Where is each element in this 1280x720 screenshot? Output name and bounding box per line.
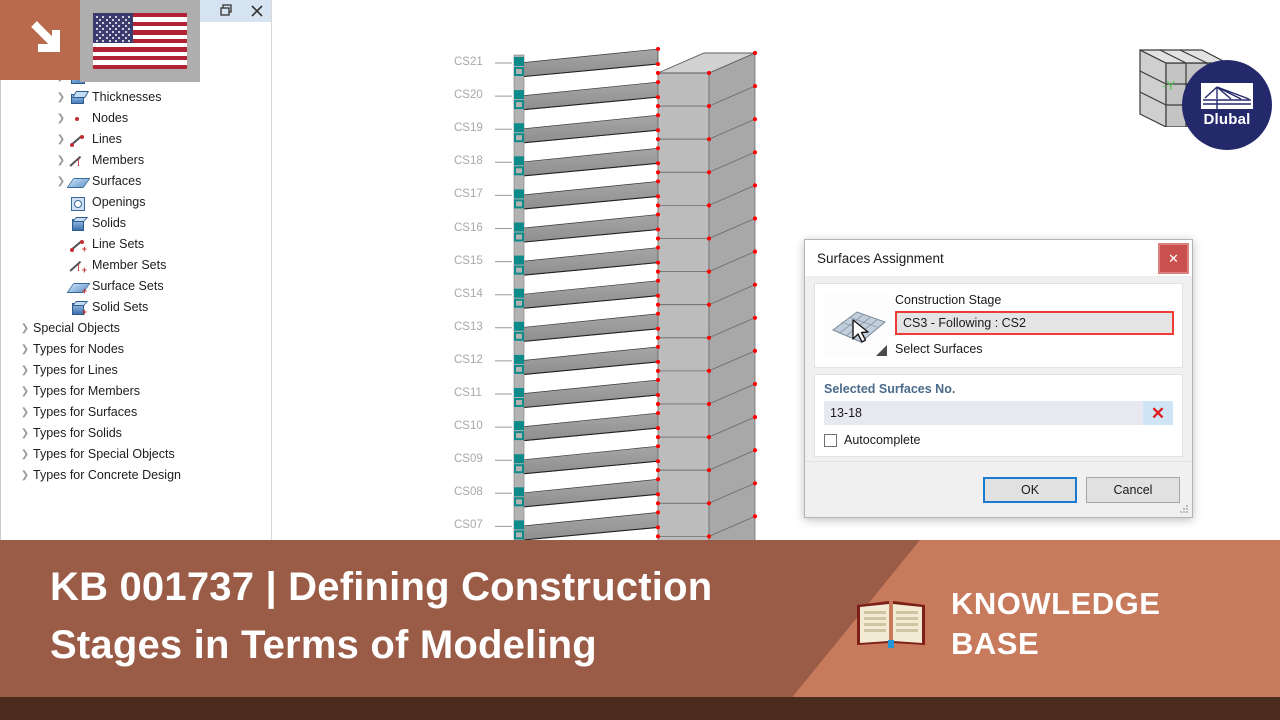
- tree-item-label: Thicknesses: [92, 91, 161, 104]
- member-set-icon: +: [69, 258, 87, 274]
- tree-item-label: Types for Surfaces: [33, 406, 137, 419]
- surface-icon: [69, 174, 87, 190]
- cs-label-cs08: CS08: [454, 486, 483, 498]
- dlubal-logo: -Y: [1132, 22, 1272, 152]
- node-icon: [69, 111, 87, 127]
- tree-item-member-sets[interactable]: ❯+Member Sets: [1, 255, 271, 276]
- dialog-title: Surfaces Assignment: [817, 251, 944, 266]
- tree-item-types-for-nodes[interactable]: ❯Types for Nodes: [1, 339, 271, 360]
- tree-item-lines[interactable]: ❯Lines: [1, 129, 271, 150]
- chevron-right-icon[interactable]: ❯: [17, 408, 33, 418]
- dlubal-badge: Dlubal: [1182, 60, 1272, 150]
- chevron-right-icon: ❯: [53, 240, 69, 250]
- red-x-icon[interactable]: ✕: [1143, 401, 1173, 425]
- cs-label-cs21: CS21: [454, 56, 483, 68]
- thumbnail-corner-marker: [876, 345, 887, 356]
- line-icon: [69, 132, 87, 148]
- tree-item-solids[interactable]: ❯Solids: [1, 213, 271, 234]
- resize-grip-icon[interactable]: [1179, 504, 1189, 514]
- chevron-right-icon[interactable]: ❯: [17, 387, 33, 397]
- tree-item-label: Surface Sets: [92, 280, 164, 293]
- cs-label-cs11: CS11: [454, 387, 482, 399]
- tree-item-members[interactable]: ❯Members: [1, 150, 271, 171]
- tree-item-label: Solids: [92, 217, 126, 230]
- cs-label-cs14: CS14: [454, 288, 483, 300]
- ok-button[interactable]: OK: [983, 477, 1077, 503]
- tree-item-thicknesses[interactable]: ❯Thicknesses: [1, 87, 271, 108]
- selected-surfaces-section: Selected Surfaces No. ✕ Autocomplete: [814, 374, 1183, 457]
- dialog-button-bar: OK Cancel: [805, 461, 1192, 517]
- tree-item-surfaces[interactable]: ❯Surfaces: [1, 171, 271, 192]
- chevron-right-icon: ❯: [53, 261, 69, 271]
- tree-item-types-for-special-objects[interactable]: ❯Types for Special Objects: [1, 444, 271, 465]
- close-icon[interactable]: ✕: [1158, 243, 1189, 274]
- tree-item-label: Member Sets: [92, 259, 166, 272]
- surfaces-assignment-dialog[interactable]: Surfaces Assignment ✕: [804, 239, 1193, 518]
- tree-item-label: Lines: [92, 133, 122, 146]
- chevron-right-icon: ❯: [53, 198, 69, 208]
- tree-item-types-for-lines[interactable]: ❯Types for Lines: [1, 360, 271, 381]
- tree-item-types-for-surfaces[interactable]: ❯Types for Surfaces: [1, 402, 271, 423]
- tree-item-openings[interactable]: ❯Openings: [1, 192, 271, 213]
- restore-icon[interactable]: [219, 3, 235, 19]
- selected-surfaces-header: Selected Surfaces No.: [824, 382, 1173, 396]
- construction-stage-section: Construction Stage CS3 - Following : CS2…: [814, 283, 1183, 368]
- cs-label-cs20: CS20: [454, 89, 483, 101]
- bottom-banner: KB 001737 | Defining Construction Stages…: [0, 540, 1280, 720]
- chevron-right-icon[interactable]: ❯: [53, 114, 69, 124]
- chevron-right-icon[interactable]: ❯: [53, 177, 69, 187]
- kb-line2: BASE: [951, 624, 1160, 664]
- cs-label-cs12: CS12: [454, 354, 483, 366]
- dlubal-wordmark: Dlubal: [1203, 111, 1250, 128]
- knowledge-base-block: KNOWLEDGE BASE: [855, 584, 1160, 663]
- tree-item-label: Types for Concrete Design: [33, 469, 181, 482]
- tree-item-surface-sets[interactable]: ❯+Surface Sets: [1, 276, 271, 297]
- tree-item-label: Openings: [92, 196, 146, 209]
- tree-item-label: Members: [92, 154, 144, 167]
- chevron-right-icon[interactable]: ❯: [17, 345, 33, 355]
- tree-item-label: Special Objects: [33, 322, 120, 335]
- us-flag-icon: [80, 0, 200, 82]
- kb-line1: KNOWLEDGE: [951, 584, 1160, 624]
- surface-set-icon: +: [69, 279, 87, 295]
- tree-item-label: Types for Solids: [33, 427, 122, 440]
- tree-item-label: Types for Special Objects: [33, 448, 175, 461]
- tree-item-label: Solid Sets: [92, 301, 148, 314]
- autocomplete-label: Autocomplete: [844, 433, 920, 447]
- select-surfaces-button[interactable]: Select Surfaces: [895, 342, 1174, 356]
- banner-title-line1: KB 001737 | Defining Construction: [50, 558, 790, 616]
- tree-item-label: Line Sets: [92, 238, 144, 251]
- tree-item-solid-sets[interactable]: ❯+Solid Sets: [1, 297, 271, 318]
- cs-label-cs16: CS16: [454, 222, 483, 234]
- opening-icon: [69, 195, 87, 211]
- application-window: CS21CS20CS19CS18CS17CS16CS15CS14CS13CS12…: [0, 0, 1280, 540]
- cs-label-cs09: CS09: [454, 453, 483, 465]
- chevron-right-icon[interactable]: ❯: [17, 450, 33, 460]
- member-icon: [69, 153, 87, 169]
- thickness-icon: [69, 90, 87, 106]
- cs-label-cs18: CS18: [454, 155, 483, 167]
- cs-label-cs07: CS07: [454, 519, 483, 531]
- tree-item-nodes[interactable]: ❯Nodes: [1, 108, 271, 129]
- cancel-button[interactable]: Cancel: [1086, 477, 1180, 503]
- construction-stage-combo[interactable]: CS3 - Following : CS2: [895, 311, 1174, 335]
- banner-title-line2: Stages in Terms of Modeling: [50, 616, 790, 674]
- cs-label-cs13: CS13: [454, 321, 483, 333]
- cs-label-cs10: CS10: [454, 420, 483, 432]
- banner-title: KB 001737 | Defining Construction Stages…: [50, 558, 790, 674]
- chevron-right-icon[interactable]: ❯: [17, 366, 33, 376]
- chevron-right-icon[interactable]: ❯: [53, 135, 69, 145]
- autocomplete-checkbox[interactable]: [824, 434, 837, 447]
- tree-item-label: Types for Members: [33, 385, 140, 398]
- banner-footer-strip: [0, 697, 1280, 720]
- chevron-right-icon: ❯: [53, 282, 69, 292]
- solid-icon: [69, 216, 87, 232]
- line-set-icon: +: [69, 237, 87, 253]
- chevron-right-icon: ❯: [53, 303, 69, 313]
- cs-label-cs17: CS17: [454, 188, 483, 200]
- tree-item-types-for-solids[interactable]: ❯Types for Solids: [1, 423, 271, 444]
- chevron-right-icon[interactable]: ❯: [17, 429, 33, 439]
- close-icon[interactable]: [249, 3, 265, 19]
- chevron-right-icon[interactable]: ❯: [17, 324, 33, 334]
- knowledge-base-text: KNOWLEDGE BASE: [951, 584, 1160, 663]
- svg-text:-Y: -Y: [1162, 78, 1175, 93]
- dialog-titlebar: Surfaces Assignment ✕: [805, 240, 1192, 277]
- truss-mark-icon: [1201, 83, 1253, 109]
- chevron-right-icon[interactable]: ❯: [53, 156, 69, 166]
- tree-item-label: Types for Nodes: [33, 343, 124, 356]
- cs-label-cs15: CS15: [454, 255, 483, 267]
- tree-item-label: Surfaces: [92, 175, 141, 188]
- tree-item-label: Types for Lines: [33, 364, 118, 377]
- chevron-right-icon[interactable]: ❯: [53, 93, 69, 103]
- construction-stage-label: Construction Stage: [895, 293, 1174, 307]
- cs-label-cs19: CS19: [454, 122, 483, 134]
- tree-item-special-objects[interactable]: ❯Special Objects: [1, 318, 271, 339]
- tree-item-label: Nodes: [92, 112, 128, 125]
- tree-item-types-for-concrete-design[interactable]: ❯Types for Concrete Design: [1, 465, 271, 486]
- open-book-icon: [855, 599, 927, 649]
- tree-item-line-sets[interactable]: ❯+Line Sets: [1, 234, 271, 255]
- tree-item-types-for-members[interactable]: ❯Types for Members: [1, 381, 271, 402]
- autocomplete-checkbox-row[interactable]: Autocomplete: [824, 433, 1173, 447]
- chevron-right-icon: ❯: [53, 219, 69, 229]
- solid-set-icon: +: [69, 300, 87, 316]
- chevron-right-icon[interactable]: ❯: [17, 471, 33, 481]
- selected-surfaces-input[interactable]: [824, 401, 1143, 425]
- surface-pick-icon: [823, 292, 889, 358]
- navigator-tree[interactable]: ❯Basic Objects❯Materials❯Sections❯Thickn…: [0, 22, 271, 540]
